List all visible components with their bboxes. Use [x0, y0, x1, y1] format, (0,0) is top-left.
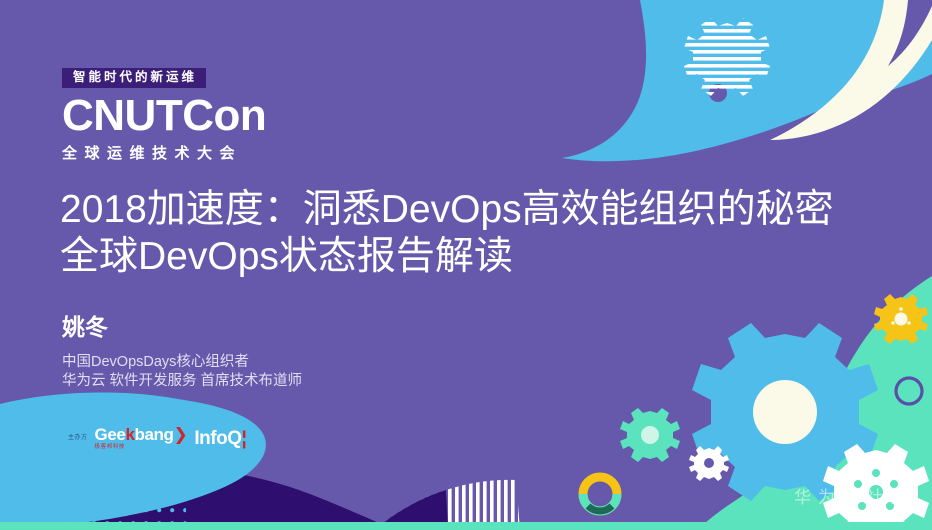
- speaker-name: 姚冬: [62, 316, 302, 339]
- striped-gear-top-right: [684, 18, 770, 96]
- geekbang-text-before: Gee: [95, 425, 126, 444]
- infoq-dot-mark: ¦: [242, 428, 247, 449]
- purple-cap-top-right: [888, 0, 932, 66]
- brand-wordmark: CNUTCon: [62, 94, 266, 138]
- brand-lockup: 智能时代的新运维 CNUTCon 全球运维技术大会: [62, 68, 266, 161]
- white-gear-tiny: [689, 446, 729, 481]
- geekbang-wordmark: Geekbang❯: [95, 426, 188, 443]
- geekbang-text-after: bang: [135, 425, 174, 444]
- brand-badge: 智能时代的新运维: [62, 68, 206, 88]
- geekbang-logo: Geekbang❯ 极客邦科技: [95, 426, 188, 451]
- speaker-role-1: 中国DevOpsDays核心组织者: [62, 353, 302, 372]
- blue-gear-small-top-right: [685, 63, 751, 123]
- blue-wave-body: [646, 0, 932, 107]
- blue-top-right-shape: [562, 0, 932, 161]
- title-line-2: 全球DevOps状态报告解读: [60, 233, 834, 280]
- dot-grid-bottom-left: [0, 440, 186, 530]
- blue-blob-extension: [0, 392, 257, 528]
- page-title: 2018加速度：洞悉DevOps高效能组织的秘密 全球DevOps状态报告解读: [60, 186, 834, 280]
- infoq-wordmark: InfoQ: [194, 428, 241, 449]
- sponsor-bar: 主办方 Geekbang❯ 极客邦科技 InfoQ¦: [68, 426, 246, 451]
- watermark-huawei-cloud-community: 华为云社区: [794, 483, 914, 508]
- title-line-1: 2018加速度：洞悉DevOps高效能组织的秘密: [60, 186, 834, 233]
- mint-gear-small: [620, 408, 680, 462]
- speaker-info: 姚冬 中国DevOpsDays核心组织者 华为云 软件开发服务 首席技术布道师: [62, 316, 302, 391]
- geekbang-k-mark: k: [125, 425, 134, 444]
- speaker-role-2: 华为云 软件开发服务 首席技术布道师: [62, 372, 302, 391]
- geekbang-arrow-icon: ❯: [174, 425, 188, 444]
- dark-hill: [18, 467, 396, 530]
- slide-canvas: 智能时代的新运维 CNUTCon 全球运维技术大会 2018加速度：洞悉DevO…: [0, 0, 932, 530]
- infoq-logo: InfoQ¦: [194, 429, 246, 448]
- brand-subtitle: 全球运维技术大会: [62, 146, 266, 161]
- gold-mint-ring: [583, 477, 617, 511]
- geekbang-tagline: 极客邦科技: [95, 445, 188, 451]
- blue-wave-top-right: [560, 0, 932, 114]
- purple-ring-outline: [896, 378, 922, 404]
- large-blue-gear: [692, 323, 878, 501]
- sponsor-prefix-label: 主办方: [68, 435, 88, 443]
- blue-blob-bottom-left: [0, 396, 266, 528]
- gold-gear: [874, 294, 928, 344]
- cream-swoosh-top-right: [770, 0, 932, 140]
- bottom-accent-strip: [0, 522, 932, 530]
- speaker-roles: 中国DevOpsDays核心组织者 华为云 软件开发服务 首席技术布道师: [62, 353, 302, 391]
